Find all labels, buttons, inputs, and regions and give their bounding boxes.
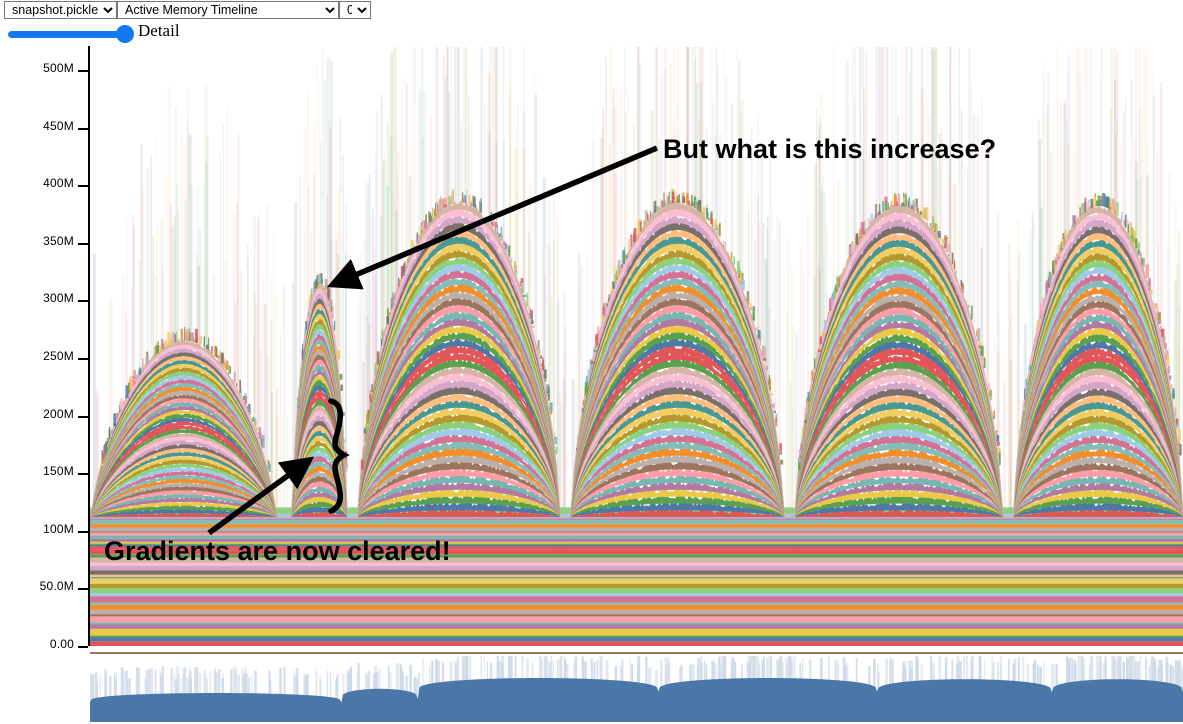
y-tick-label: 500M — [43, 61, 74, 75]
detail-slider-thumb[interactable] — [116, 25, 134, 43]
y-axis-tick: 400M — [0, 185, 88, 187]
y-tick-label: 250M — [43, 349, 74, 363]
detail-slider-label: Detail — [138, 21, 180, 41]
y-tick-mark — [78, 70, 88, 72]
y-axis-tick: 50.0M — [0, 588, 88, 590]
view-mode-select[interactable]: Active Memory TimelineActive Cached Memo… — [117, 1, 339, 19]
y-tick-label: 400M — [43, 176, 74, 190]
memory-overview-strip[interactable] — [0, 652, 1183, 724]
overview-top-rule — [90, 652, 1183, 654]
y-axis-tick: 300M — [0, 300, 88, 302]
y-tick-label: 350M — [43, 234, 74, 248]
y-axis-tick: 0.00 — [0, 646, 88, 648]
y-tick-mark — [78, 128, 88, 130]
y-tick-label: 300M — [43, 291, 74, 305]
y-tick-label: 450M — [43, 119, 74, 133]
y-axis-tick: 350M — [0, 243, 88, 245]
annotation-increase-text: But what is this increase? — [663, 134, 996, 165]
persistent-memory-stripes — [90, 507, 1183, 646]
y-tick-mark — [78, 358, 88, 360]
snapshot-file-select[interactable]: snapshot.pickle — [4, 1, 117, 19]
y-tick-mark — [78, 243, 88, 245]
y-tick-label: 50.0M — [40, 579, 74, 593]
y-axis-tick: 100M — [0, 531, 88, 533]
y-tick-mark — [78, 646, 88, 648]
annotation-gradients-text: Gradients are now cleared! — [104, 536, 451, 567]
y-axis-tick: 200M — [0, 416, 88, 418]
y-axis-tick: 500M — [0, 70, 88, 72]
y-axis-tick: 450M — [0, 128, 88, 130]
y-tick-label: 0.00 — [50, 637, 74, 651]
y-tick-label: 100M — [43, 522, 74, 536]
y-tick-mark — [78, 531, 88, 533]
y-tick-mark — [78, 416, 88, 418]
y-tick-mark — [78, 300, 88, 302]
y-axis-tick: 150M — [0, 473, 88, 475]
y-tick-mark — [78, 185, 88, 187]
y-tick-label: 150M — [43, 464, 74, 478]
y-tick-label: 200M — [43, 407, 74, 421]
detail-slider-track[interactable] — [8, 31, 126, 38]
toolbar: snapshot.pickle Active Memory TimelineAc… — [0, 0, 1183, 22]
y-axis-tick: 250M — [0, 358, 88, 360]
y-tick-mark — [78, 473, 88, 475]
detail-slider-row: Detail — [0, 23, 1183, 45]
device-index-select[interactable]: 0 — [339, 1, 371, 19]
y-tick-mark — [78, 588, 88, 590]
